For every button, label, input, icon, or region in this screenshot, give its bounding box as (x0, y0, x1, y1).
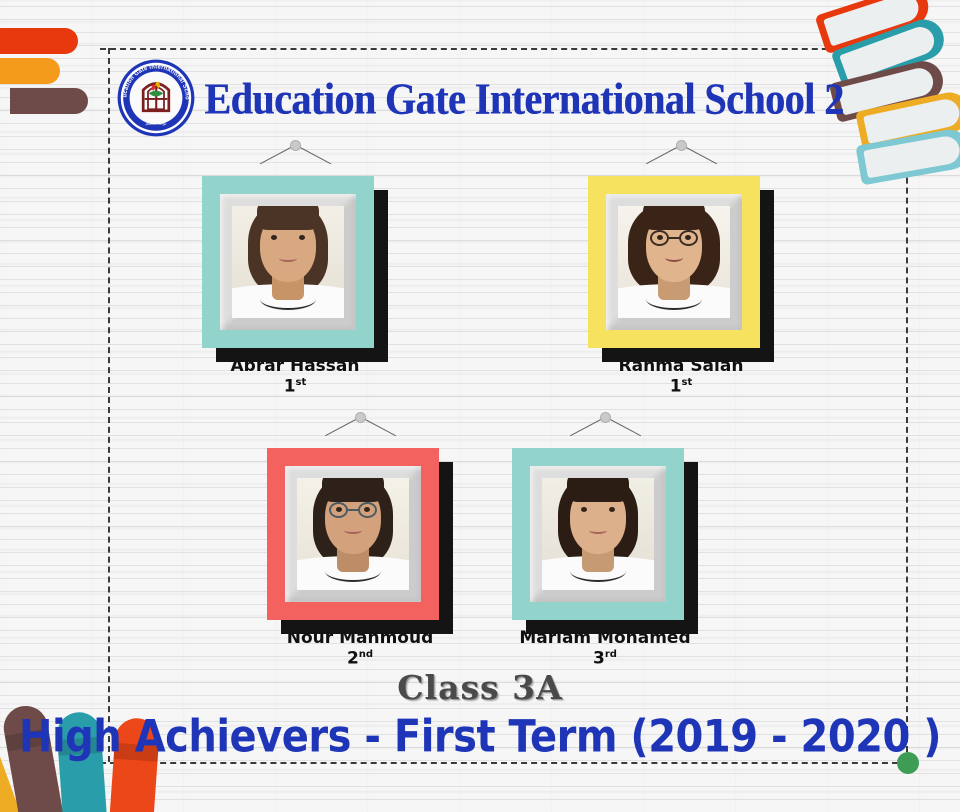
nail-icon (355, 412, 366, 423)
frame-mat (606, 194, 742, 330)
class-label: Class 3A (0, 668, 960, 707)
rank-suffix: st (682, 377, 693, 388)
frame-hanger (202, 140, 388, 176)
frame-hanger (267, 412, 453, 448)
poster-header: Education Gate International School بواب… (0, 55, 960, 141)
rank-number: 3 (593, 649, 605, 669)
hanging-wire (360, 417, 396, 437)
achievers-subtitle: High Achievers - First Term (2019 - 2020… (0, 711, 960, 763)
frame-hanger (512, 412, 698, 448)
nail-icon (290, 140, 301, 151)
frame-mat (285, 466, 421, 602)
student-photo (542, 478, 654, 590)
frame-border (267, 448, 439, 620)
student-rank: 2nd (267, 649, 453, 669)
student-card-mariam-mohamed[interactable]: Mariam Mohamed 3rd (512, 412, 698, 669)
student-rank: 1st (202, 377, 388, 397)
school-logo-icon: Education Gate International School بواب… (116, 58, 196, 138)
student-caption: Mariam Mohamed 3rd (512, 629, 698, 669)
frame-border (588, 176, 760, 348)
frame-border (512, 448, 684, 620)
hanging-wire (295, 145, 331, 165)
dashed-border-top (100, 48, 908, 50)
student-photo (297, 478, 409, 590)
book-bar-icon (0, 28, 78, 54)
photo-frame (512, 448, 698, 620)
rank-number: 2 (347, 649, 359, 669)
rank-suffix: rd (605, 649, 617, 660)
hanging-wire (605, 417, 641, 437)
hanging-wire (681, 145, 717, 165)
rank-suffix: st (296, 377, 307, 388)
frame-hanger (588, 140, 774, 176)
frame-border (202, 176, 374, 348)
page-title: Education Gate International School 2 (204, 72, 843, 125)
student-photo (618, 206, 730, 318)
poster-canvas: Education Gate International School بواب… (0, 0, 960, 812)
student-card-nour-mahmoud[interactable]: Nour Mahmoud 2nd (267, 412, 453, 669)
student-caption: Nour Mahmoud 2nd (267, 629, 453, 669)
student-rank: 1st (588, 377, 774, 397)
nail-icon (600, 412, 611, 423)
frame-mat (530, 466, 666, 602)
photo-frame (202, 176, 388, 348)
rank-number: 1 (670, 377, 682, 397)
rank-number: 1 (284, 377, 296, 397)
student-card-rahma-salah[interactable]: Rahma Salah 1st (588, 140, 774, 397)
student-photo (232, 206, 344, 318)
rank-suffix: nd (359, 649, 373, 660)
photo-frame (588, 176, 774, 348)
svg-text:بوابة التعليم: بوابة التعليم (146, 121, 167, 126)
photo-frame (267, 448, 453, 620)
dashed-border-left (108, 48, 110, 762)
student-card-abrar-hassan[interactable]: Abrar Hassan 1st (202, 140, 388, 397)
student-rank: 3rd (512, 649, 698, 669)
student-caption: Abrar Hassan 1st (202, 357, 388, 397)
student-caption: Rahma Salah 1st (588, 357, 774, 397)
nail-icon (676, 140, 687, 151)
frame-mat (220, 194, 356, 330)
